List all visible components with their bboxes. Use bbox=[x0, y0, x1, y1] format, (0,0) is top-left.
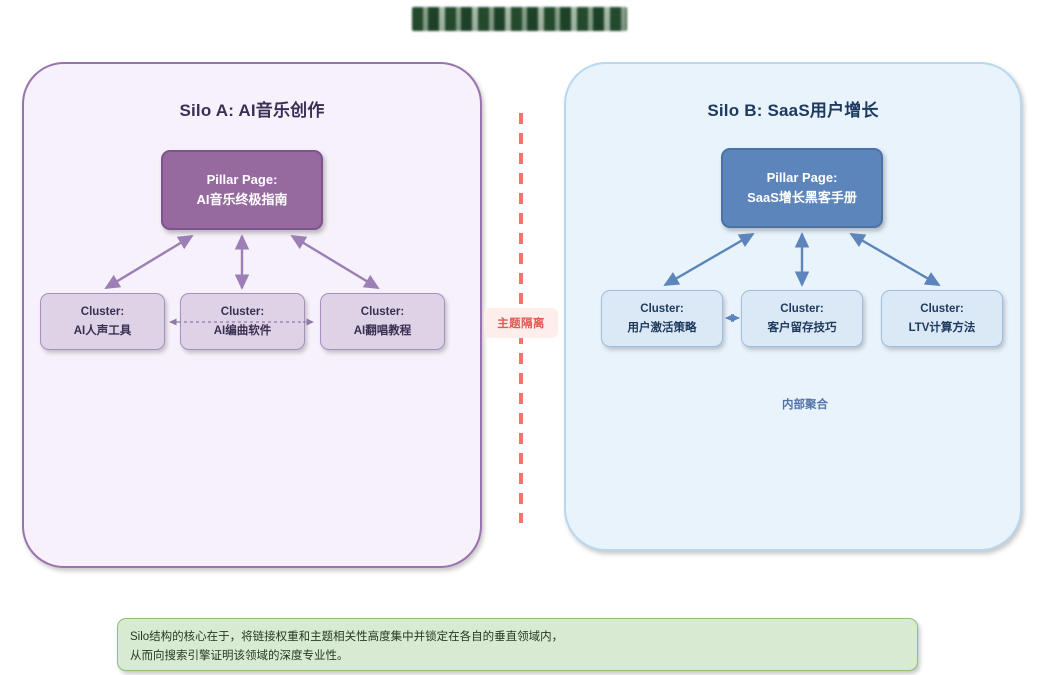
pillar-a-label: Pillar Page: bbox=[207, 170, 278, 190]
page-title-redacted bbox=[412, 7, 627, 31]
silo-b-cluster-1[interactable]: Cluster: 用户激活策略 bbox=[601, 290, 723, 347]
pillar-a-name: AI音乐终极指南 bbox=[196, 190, 287, 210]
note-box: Silo结构的核心在于，将链接权重和主题相关性高度集中并锁定在各自的垂直领域内，… bbox=[117, 618, 918, 671]
topic-isolation-badge: 主题隔离 bbox=[484, 308, 558, 338]
cluster-b3-label: Cluster: bbox=[920, 300, 963, 318]
cluster-a1-label: Cluster: bbox=[81, 303, 124, 321]
silo-a-title: Silo A: AI音乐创作 bbox=[24, 96, 480, 121]
silo-b-internal-aggregation-label: 内部聚合 bbox=[755, 396, 855, 412]
note-line-1: Silo结构的核心在于，将链接权重和主题相关性高度集中并锁定在各自的垂直领域内， bbox=[130, 628, 905, 647]
silo-b-title: Silo B: SaaS用户增长 bbox=[566, 96, 1020, 121]
diagram-canvas: Silo A: AI音乐创作 Pillar Page: AI音乐终极指南 Clu… bbox=[0, 0, 1047, 675]
note-line-2: 从而向搜索引擎证明该领域的深度专业性。 bbox=[130, 647, 905, 666]
silo-b-cluster-3[interactable]: Cluster: LTV计算方法 bbox=[881, 290, 1003, 347]
cluster-b1-label: Cluster: bbox=[640, 300, 683, 318]
silo-b-cluster-2[interactable]: Cluster: 客户留存技巧 bbox=[741, 290, 863, 347]
cluster-a3-name: AI翻唱教程 bbox=[354, 322, 412, 340]
cluster-a1-name: AI人声工具 bbox=[74, 322, 132, 340]
cluster-b1-name: 用户激活策略 bbox=[628, 319, 697, 337]
silo-b-pillar-page[interactable]: Pillar Page: SaaS增长黑客手册 bbox=[721, 148, 883, 228]
pillar-b-label: Pillar Page: bbox=[767, 168, 838, 188]
cluster-b2-name: 客户留存技巧 bbox=[768, 319, 837, 337]
cluster-a3-label: Cluster: bbox=[361, 303, 404, 321]
silo-a-pillar-page[interactable]: Pillar Page: AI音乐终极指南 bbox=[161, 150, 323, 230]
silo-a-cluster-1[interactable]: Cluster: AI人声工具 bbox=[40, 293, 165, 350]
silo-a-cluster-3[interactable]: Cluster: AI翻唱教程 bbox=[320, 293, 445, 350]
cluster-a2-label: Cluster: bbox=[221, 303, 264, 321]
cluster-b3-name: LTV计算方法 bbox=[909, 319, 976, 337]
silo-a-cluster-2[interactable]: Cluster: AI编曲软件 bbox=[180, 293, 305, 350]
cluster-b2-label: Cluster: bbox=[780, 300, 823, 318]
pillar-b-name: SaaS增长黑客手册 bbox=[747, 188, 857, 208]
cluster-a2-name: AI编曲软件 bbox=[214, 322, 272, 340]
